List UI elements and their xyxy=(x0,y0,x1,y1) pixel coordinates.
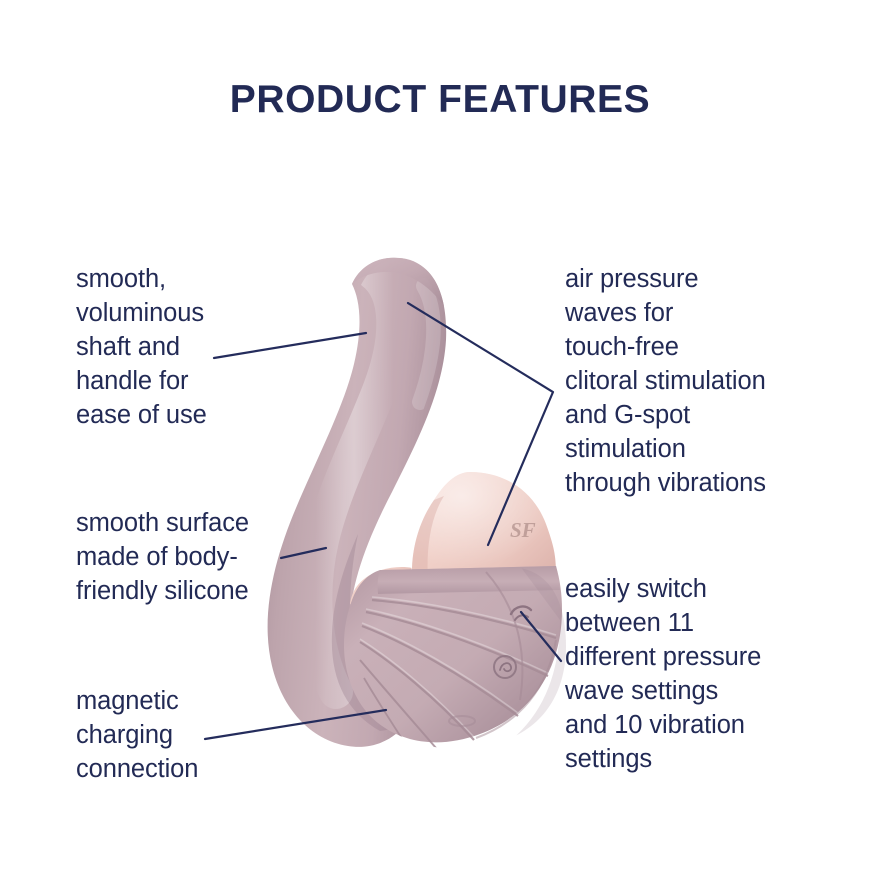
callout-air-pressure: air pressure waves for touch-free clitor… xyxy=(565,262,865,500)
product-head: SF xyxy=(412,472,556,582)
callout-silicone: smooth surface made of body- friendly si… xyxy=(76,506,336,608)
callout-shaft: smooth, voluminous shaft and handle for … xyxy=(76,262,326,432)
callout-settings: easily switch between 11 different press… xyxy=(565,572,865,776)
product-features-infographic: PRODUCT FEATURES xyxy=(0,0,880,880)
brand-mark-sf: SF xyxy=(510,518,536,542)
svg-text:SF: SF xyxy=(510,518,536,542)
callout-magnetic-charging: magnetic charging connection xyxy=(76,684,326,786)
